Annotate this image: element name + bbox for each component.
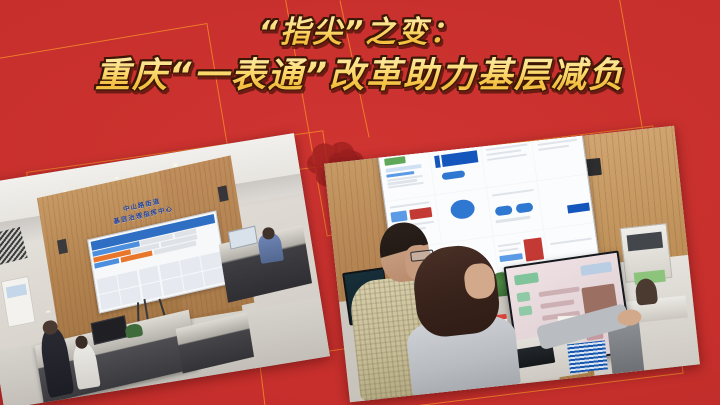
right-photo-scene — [324, 126, 700, 403]
video-wall-tile-7 — [487, 182, 543, 236]
poster-root: “指尖”之变： 重庆“一表通”改革助力基层减负 中山路街道 基层治理指挥中心 — [0, 0, 720, 405]
right-storage-crate — [567, 341, 609, 374]
video-wall-tile-8 — [538, 175, 594, 229]
photo-right-workstation[interactable] — [324, 126, 700, 403]
right-person-seated — [397, 241, 521, 396]
left-speaker-2 — [217, 185, 228, 201]
